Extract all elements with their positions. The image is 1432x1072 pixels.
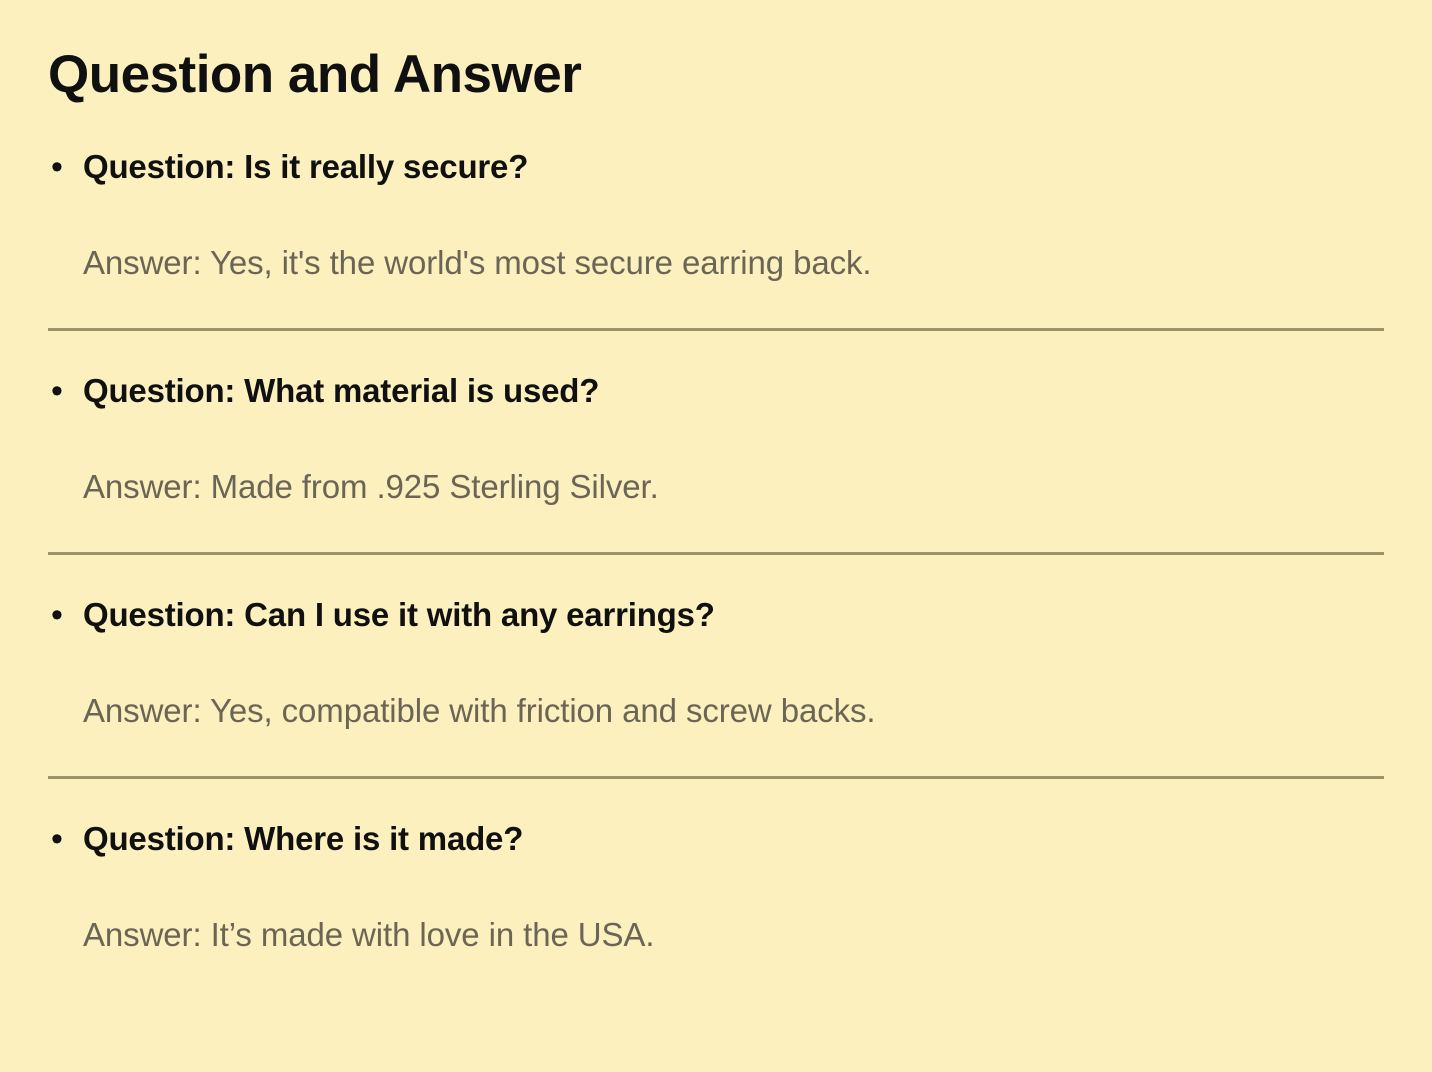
question-row: • Question: What material is used?	[48, 369, 1384, 413]
page-title: Question and Answer	[48, 0, 1384, 107]
list-item: • Question: What material is used? Answe…	[48, 331, 1384, 555]
qa-page: Question and Answer • Question: Is it re…	[0, 0, 1432, 1072]
answer-text: Answer: Yes, compatible with friction an…	[48, 637, 1384, 731]
question-text: Question: Where is it made?	[83, 817, 1384, 861]
answer-text: Answer: Yes, it's the world's most secur…	[48, 189, 1384, 283]
answer-text: Answer: Made from .925 Sterling Silver.	[48, 413, 1384, 507]
bullet-icon: •	[48, 593, 83, 637]
question-row: • Question: Where is it made?	[48, 817, 1384, 861]
list-item: • Question: Where is it made? Answer: It…	[48, 779, 1384, 955]
qa-block-2: • Question: What material is used? Answe…	[48, 331, 1384, 507]
answer-text: Answer: It’s made with love in the USA.	[48, 861, 1384, 955]
bullet-icon: •	[48, 369, 83, 413]
question-text: Question: What material is used?	[83, 369, 1384, 413]
qa-block-4: • Question: Where is it made? Answer: It…	[48, 779, 1384, 955]
question-text: Question: Is it really secure?	[83, 145, 1384, 189]
bullet-icon: •	[48, 145, 83, 189]
list-item: • Question: Can I use it with any earrin…	[48, 555, 1384, 779]
bullet-icon: •	[48, 817, 83, 861]
qa-block-3: • Question: Can I use it with any earrin…	[48, 555, 1384, 731]
qa-block-1: • Question: Is it really secure? Answer:…	[48, 107, 1384, 283]
question-row: • Question: Can I use it with any earrin…	[48, 593, 1384, 637]
list-item: • Question: Is it really secure? Answer:…	[48, 107, 1384, 331]
qa-list: • Question: Is it really secure? Answer:…	[48, 107, 1384, 955]
question-row: • Question: Is it really secure?	[48, 145, 1384, 189]
question-text: Question: Can I use it with any earrings…	[83, 593, 1384, 637]
